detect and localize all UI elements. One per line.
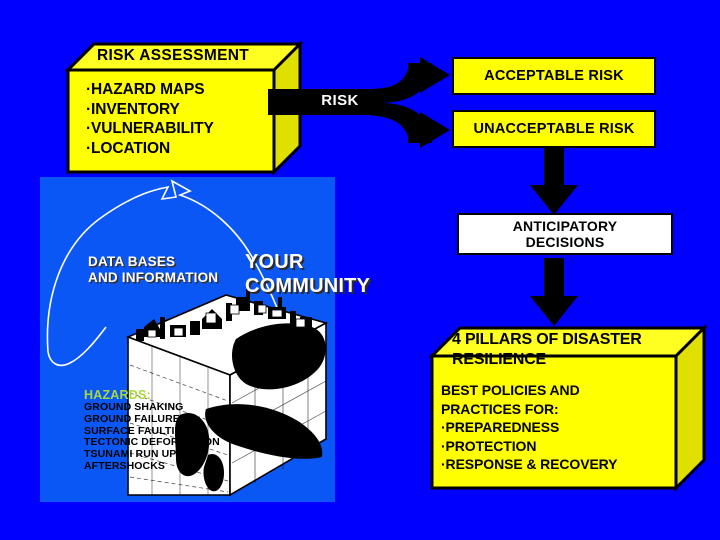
arrow-to-anticipatory <box>524 147 584 222</box>
hazards-list: GROUND SHAKING GROUND FAILURE SURFACE FA… <box>84 402 244 473</box>
anticipatory-line2: DECISIONS <box>526 234 605 250</box>
four-pillars-item: BEST POLICIES AND <box>441 381 686 400</box>
four-pillars-title-line1: 4 PILLARS OF DISASTER <box>452 330 700 350</box>
arrow-to-pillars <box>524 258 584 333</box>
unacceptable-risk-box: UNACCEPTABLE RISK <box>452 110 656 148</box>
hazard-item: AFTERSHOCKS <box>84 461 244 473</box>
four-pillars-title-line2: RESILIENCE <box>452 350 700 370</box>
data-bases-line1: DATA BASES <box>88 254 248 270</box>
risk-assessment-list: ·HAZARD MAPS ·INVENTORY ·VULNERABILITY ·… <box>86 80 261 158</box>
four-pillars-item: ·RESPONSE & RECOVERY <box>441 455 686 474</box>
anticipatory-line1: ANTICIPATORY <box>513 218 618 234</box>
risk-assessment-item: ·LOCATION <box>86 139 261 159</box>
risk-assessment-item: ·VULNERABILITY <box>86 119 261 139</box>
down-arrow-icon <box>524 258 584 328</box>
your-community-line1: YOUR <box>245 250 395 274</box>
down-arrow-icon <box>524 147 584 217</box>
four-pillars-body: BEST POLICIES AND PRACTICES FOR: ·PREPAR… <box>441 381 686 474</box>
four-pillars-item: ·PREPAREDNESS <box>441 418 686 437</box>
acceptable-risk-box: ACCEPTABLE RISK <box>452 57 656 95</box>
hazard-item: GROUND FAILURE <box>84 414 244 426</box>
risk-arrow-label: RISK <box>305 92 375 112</box>
four-pillars-title: 4 PILLARS OF DISASTER RESILIENCE <box>452 330 700 370</box>
risk-assessment-item: ·INVENTORY <box>86 100 261 120</box>
hazards-title: HAZARDS: <box>84 388 151 402</box>
your-community-line2: COMMUNITY <box>245 274 395 298</box>
diagram-canvas: DATA BASES AND INFORMATION YOUR COMMUNIT… <box>0 0 720 540</box>
anticipatory-decisions-box: ANTICIPATORY DECISIONS <box>457 213 673 255</box>
risk-assessment-title: RISK ASSESSMENT <box>78 47 268 69</box>
data-bases-label: DATA BASES AND INFORMATION <box>88 254 248 286</box>
your-community-label: YOUR COMMUNITY <box>245 250 395 298</box>
risk-assessment-item: ·HAZARD MAPS <box>86 80 261 100</box>
data-bases-line2: AND INFORMATION <box>88 270 248 286</box>
four-pillars-item: ·PROTECTION <box>441 437 686 456</box>
four-pillars-item: PRACTICES FOR: <box>441 400 686 419</box>
